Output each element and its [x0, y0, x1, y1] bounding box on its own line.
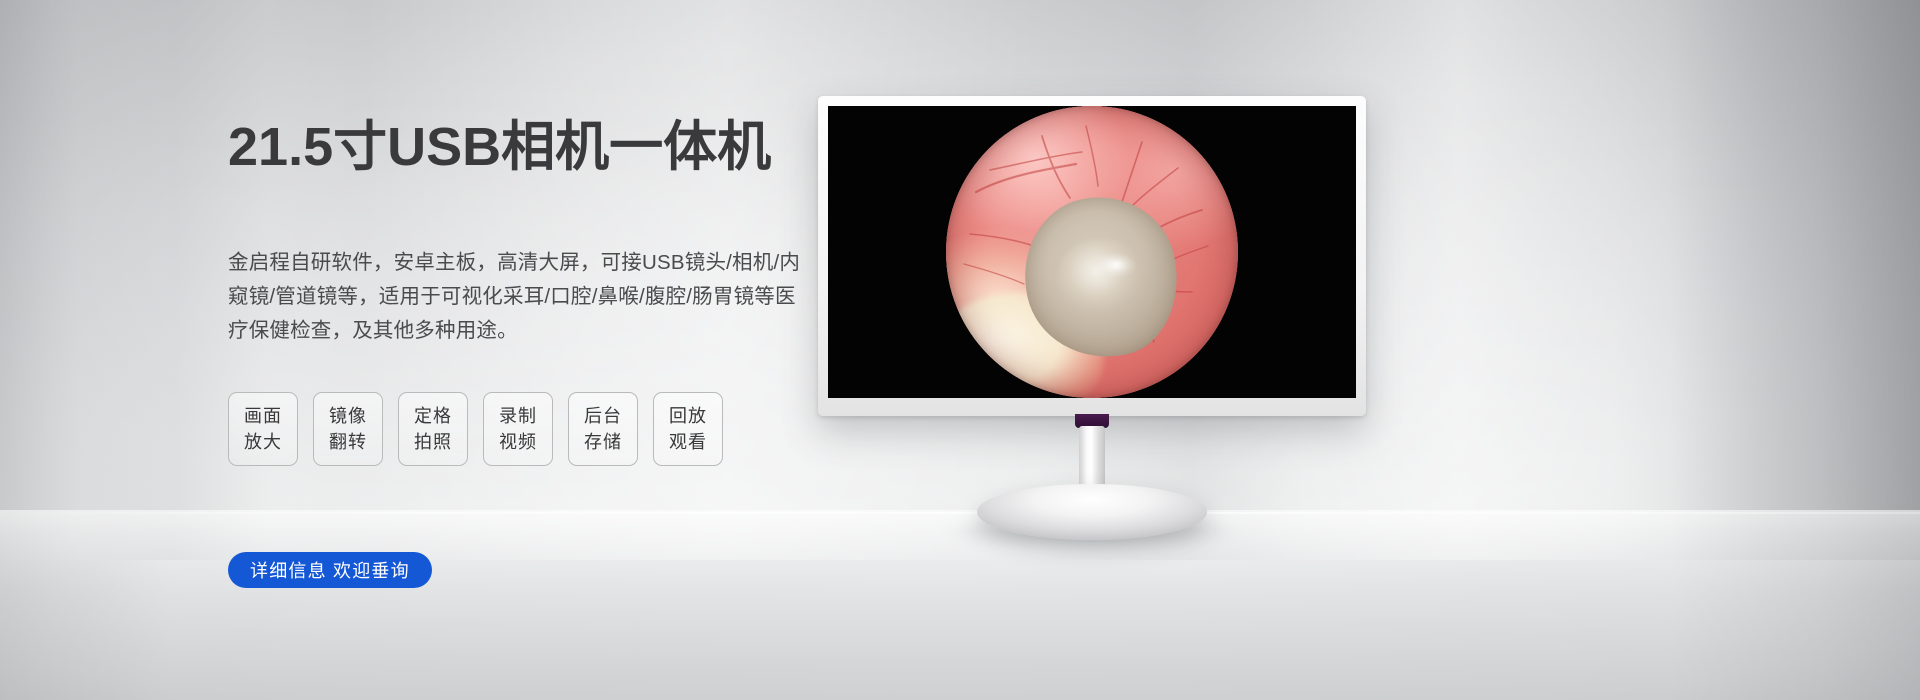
- feature-badge-line1: 镜像: [329, 403, 367, 429]
- feature-badge-zoom[interactable]: 画面 放大: [228, 392, 298, 466]
- feature-badge-line2: 存储: [584, 429, 622, 455]
- banner-description: 金启程自研软件，安卓主板，高清大屏，可接USB镜头/相机/内窥镜/管道镜等，适用…: [228, 246, 808, 348]
- endoscope-image: [946, 106, 1238, 398]
- feature-badge-line1: 画面: [244, 403, 282, 429]
- feature-badge-line2: 翻转: [329, 429, 367, 455]
- feature-badge-line2: 拍照: [414, 429, 452, 455]
- contact-inquiry-button[interactable]: 详细信息 欢迎垂询: [228, 552, 432, 588]
- feature-badge-line2: 观看: [669, 429, 707, 455]
- feature-badge-mirror-flip[interactable]: 镜像 翻转: [313, 392, 383, 466]
- feature-badge-line1: 定格: [414, 403, 452, 429]
- feature-badge-playback[interactable]: 回放 观看: [653, 392, 723, 466]
- feature-badge-line1: 录制: [499, 403, 537, 429]
- feature-badge-background-storage[interactable]: 后台 存储: [568, 392, 638, 466]
- feature-badge-line2: 放大: [244, 429, 282, 455]
- product-monitor: [818, 96, 1366, 416]
- page-title: 21.5寸USB相机一体机: [228, 118, 848, 176]
- feature-badge-line1: 后台: [584, 403, 622, 429]
- feature-badge-line1: 回放: [669, 403, 707, 429]
- monitor-screen: [828, 106, 1356, 398]
- banner-copy: 21.5寸USB相机一体机 金启程自研软件，安卓主板，高清大屏，可接USB镜头/…: [228, 118, 848, 176]
- feature-badge-line2: 视频: [499, 429, 537, 455]
- monitor-bezel: [818, 96, 1366, 416]
- background-floor-horizon: [0, 512, 1920, 514]
- feature-badge-record-video[interactable]: 录制 视频: [483, 392, 553, 466]
- feature-badge-freeze-photo[interactable]: 定格 拍照: [398, 392, 468, 466]
- feature-badge-list: 画面 放大 镜像 翻转 定格 拍照 录制 视频 后台 存储 回放 观看: [228, 392, 723, 466]
- endoscope-vignette: [946, 106, 1238, 398]
- monitor-stand-base: [977, 484, 1207, 540]
- product-banner: 21.5寸USB相机一体机 金启程自研软件，安卓主板，高清大屏，可接USB镜头/…: [0, 0, 1920, 700]
